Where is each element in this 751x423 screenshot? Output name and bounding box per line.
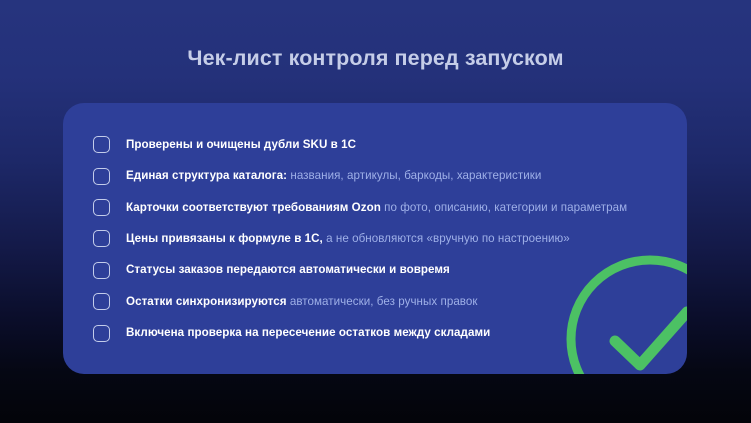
checklist-row-label-primary: Цены привязаны к формуле в 1С, bbox=[126, 232, 323, 245]
checklist-row-label-primary: Остатки синхронизируются bbox=[126, 295, 287, 308]
checklist-row-label: Остатки синхронизируются автоматически, … bbox=[126, 295, 478, 309]
page-title: Чек-лист контроля перед запуском bbox=[0, 46, 751, 71]
checklist-row[interactable]: Единая структура каталога: названия, арт… bbox=[63, 160, 687, 191]
checklist-row[interactable]: Карточки соответствуют требованиям Ozon … bbox=[63, 192, 687, 223]
checklist-row-label-primary: Статусы заказов передаются автоматически… bbox=[126, 263, 450, 276]
checklist-row-label-primary: Включена проверка на пересечение остатко… bbox=[126, 326, 490, 339]
checklist-row[interactable]: Статусы заказов передаются автоматически… bbox=[63, 255, 687, 286]
checklist-row-label-primary: Единая структура каталога: bbox=[126, 169, 287, 182]
checklist-row[interactable]: Цены привязаны к формуле в 1С, а не обно… bbox=[63, 223, 687, 254]
checklist-row-label: Цены привязаны к формуле в 1С, а не обно… bbox=[126, 232, 570, 246]
slide-root: Чек-лист контроля перед запуском Провере… bbox=[0, 0, 751, 423]
checklist-row-label-primary: Проверены и очищены дубли SKU в 1С bbox=[126, 138, 356, 151]
checkbox-icon[interactable] bbox=[93, 136, 110, 153]
checkbox-icon[interactable] bbox=[93, 325, 110, 342]
checklist-row-label: Карточки соответствуют требованиям Ozon … bbox=[126, 201, 627, 215]
checklist-row-label-primary: Карточки соответствуют требованиям Ozon bbox=[126, 201, 381, 214]
checklist-row[interactable]: Включена проверка на пересечение остатко… bbox=[63, 317, 687, 348]
checklist-row-label: Единая структура каталога: названия, арт… bbox=[126, 169, 541, 183]
checklist-card: Проверены и очищены дубли SKU в 1СЕдиная… bbox=[63, 103, 687, 374]
checkbox-icon[interactable] bbox=[93, 230, 110, 247]
checkbox-icon[interactable] bbox=[93, 293, 110, 310]
checkbox-icon[interactable] bbox=[93, 168, 110, 185]
checkbox-icon[interactable] bbox=[93, 199, 110, 216]
checklist-row-label-secondary: а не обновляются «вручную по настроению» bbox=[323, 232, 570, 245]
checklist-row-label: Проверены и очищены дубли SKU в 1С bbox=[126, 138, 356, 152]
checklist-row-label-secondary: названия, артикулы, баркоды, характерист… bbox=[287, 169, 541, 182]
checklist-row-label: Включена проверка на пересечение остатко… bbox=[126, 326, 490, 340]
checkbox-icon[interactable] bbox=[93, 262, 110, 279]
checklist-row-label-secondary: по фото, описанию, категории и параметра… bbox=[381, 201, 627, 214]
checklist-row-label: Статусы заказов передаются автоматически… bbox=[126, 263, 450, 277]
checklist-row[interactable]: Остатки синхронизируются автоматически, … bbox=[63, 286, 687, 317]
checklist-row-label-secondary: автоматически, без ручных правок bbox=[287, 295, 478, 308]
checklist: Проверены и очищены дубли SKU в 1СЕдиная… bbox=[63, 103, 687, 349]
checklist-row[interactable]: Проверены и очищены дубли SKU в 1С bbox=[63, 129, 687, 160]
